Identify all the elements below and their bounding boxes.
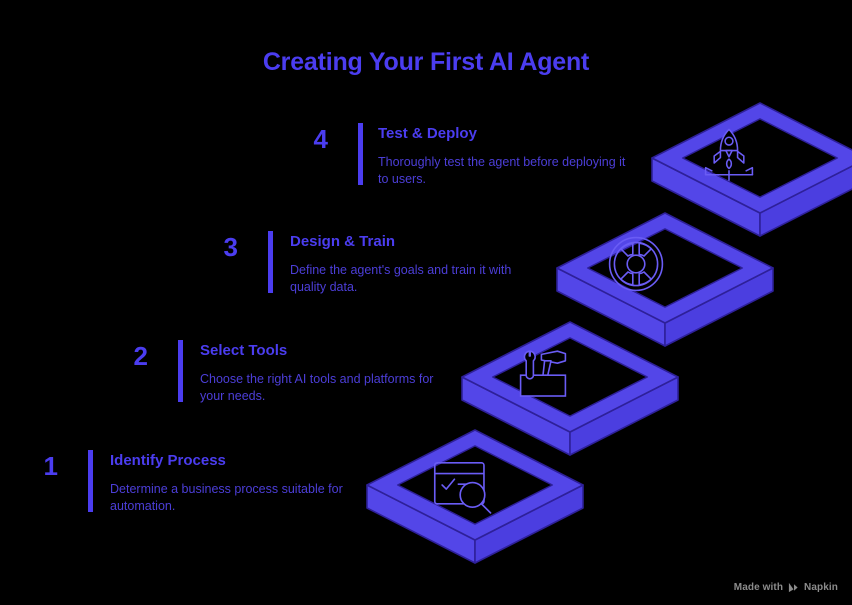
stair-step-4 <box>652 103 852 236</box>
watermark-prefix: Made with <box>734 582 783 593</box>
step-accent-bar-2 <box>178 340 183 402</box>
step-heading-3: Design & Train <box>290 234 395 251</box>
page-title: Creating Your First AI Agent <box>0 48 852 77</box>
step-4-icon-rocket-launch <box>706 129 753 180</box>
step-3-icon-target-wheel <box>610 238 663 291</box>
step-heading-2: Select Tools <box>200 343 287 360</box>
watermark: Made with Napkin <box>734 582 838 593</box>
step-description-2: Choose the right AI tools and platforms … <box>200 371 450 405</box>
step-number-4: 4 <box>288 126 328 152</box>
step-description-3: Define the agent's goals and train it wi… <box>290 262 540 296</box>
step-number-1: 1 <box>18 453 58 479</box>
step-description-1: Determine a business process suitable fo… <box>110 481 360 515</box>
stair-step-3 <box>557 213 773 346</box>
step-accent-bar-1 <box>88 450 93 512</box>
step-heading-4: Test & Deploy <box>378 126 477 143</box>
watermark-brand: Napkin <box>804 582 838 593</box>
step-number-2: 2 <box>108 343 148 369</box>
step-1-icon-document-search <box>435 463 491 513</box>
step-2-icon-toolbox <box>521 351 566 396</box>
step-accent-bar-3 <box>268 231 273 293</box>
napkin-logo-icon <box>788 582 799 593</box>
step-heading-1: Identify Process <box>110 453 226 470</box>
step-description-4: Thoroughly test the agent before deployi… <box>378 154 628 188</box>
step-number-3: 3 <box>198 234 238 260</box>
step-accent-bar-4 <box>358 123 363 185</box>
stair-step-1 <box>367 430 583 563</box>
infographic-canvas: Creating Your First AI Agent <box>0 0 852 605</box>
stair-step-2 <box>462 322 678 455</box>
